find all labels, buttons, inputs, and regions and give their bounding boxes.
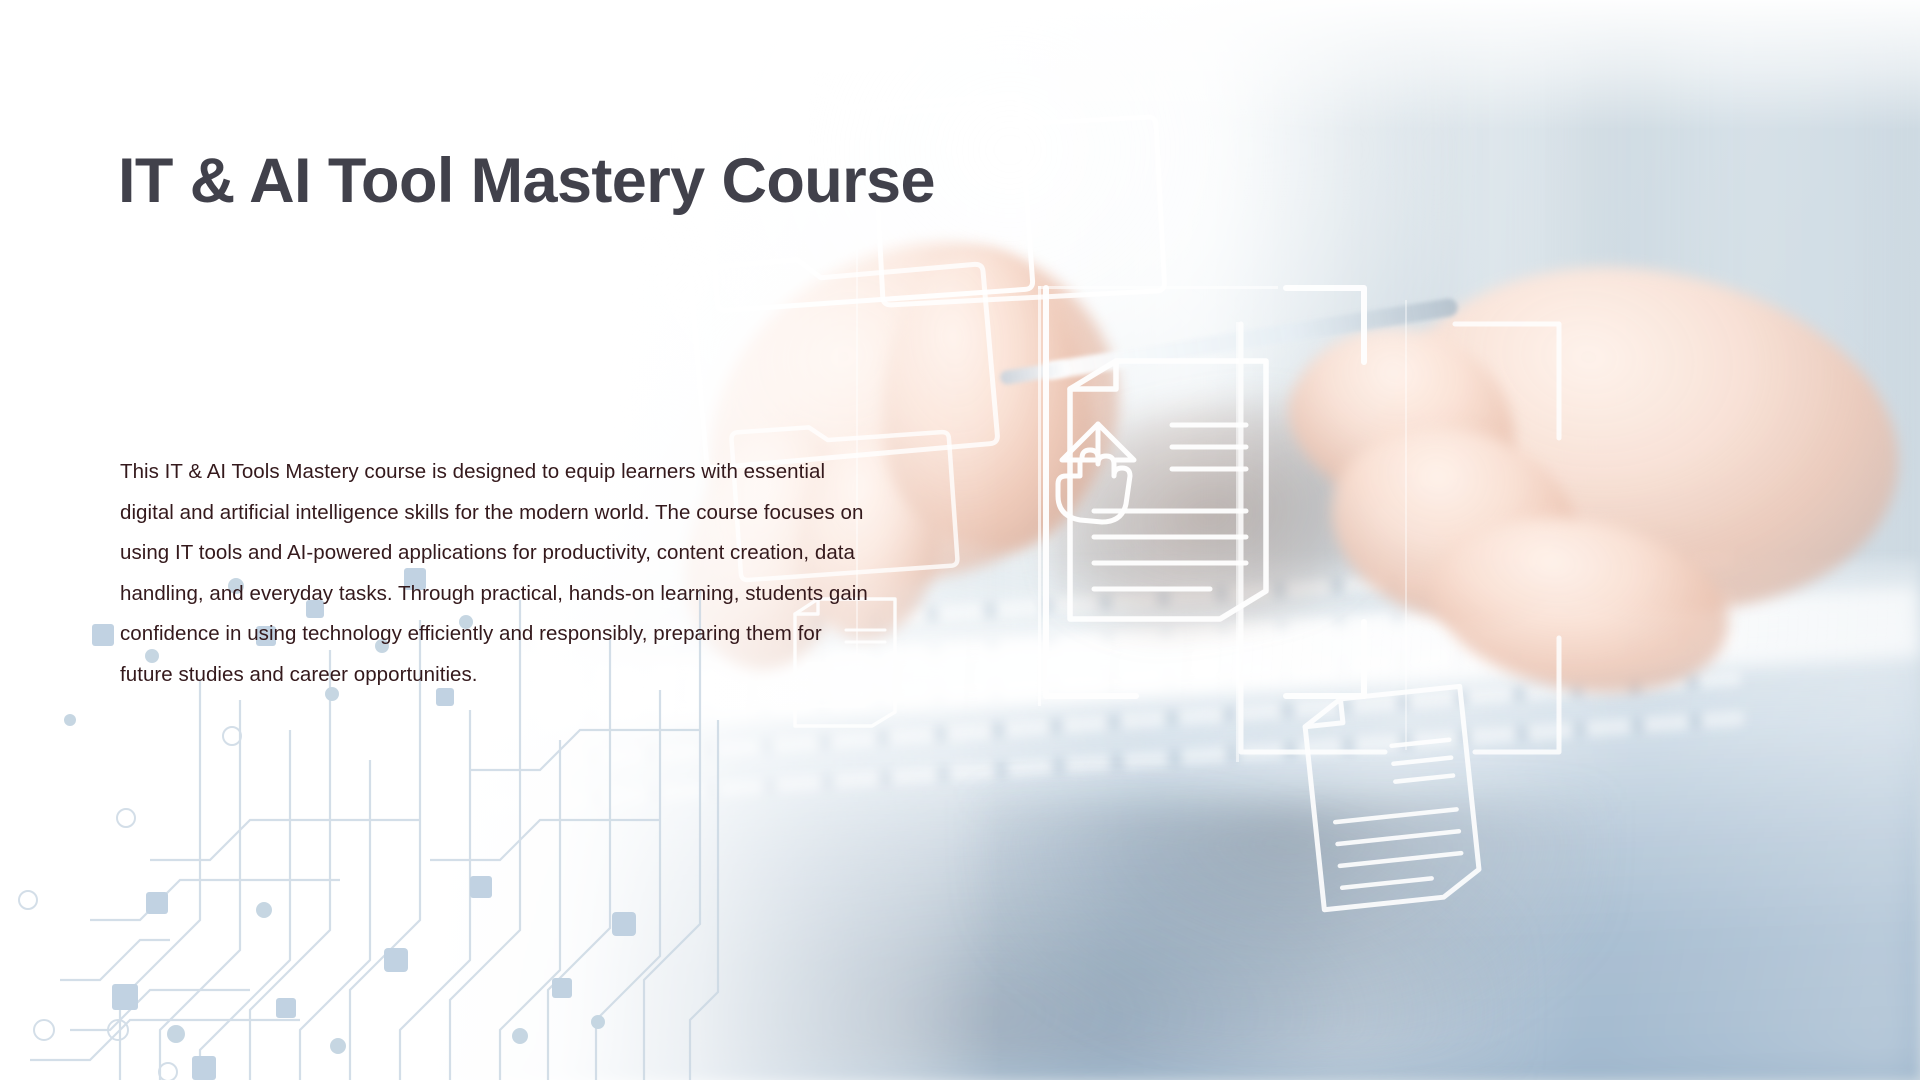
page-title: IT & AI Tool Mastery Course: [118, 146, 948, 217]
desk-reflection: [980, 800, 1600, 1040]
course-description: This IT & AI Tools Mastery course is des…: [120, 452, 880, 695]
slide-root: IT & AI Tool Mastery Course This IT & AI…: [0, 0, 1920, 1080]
